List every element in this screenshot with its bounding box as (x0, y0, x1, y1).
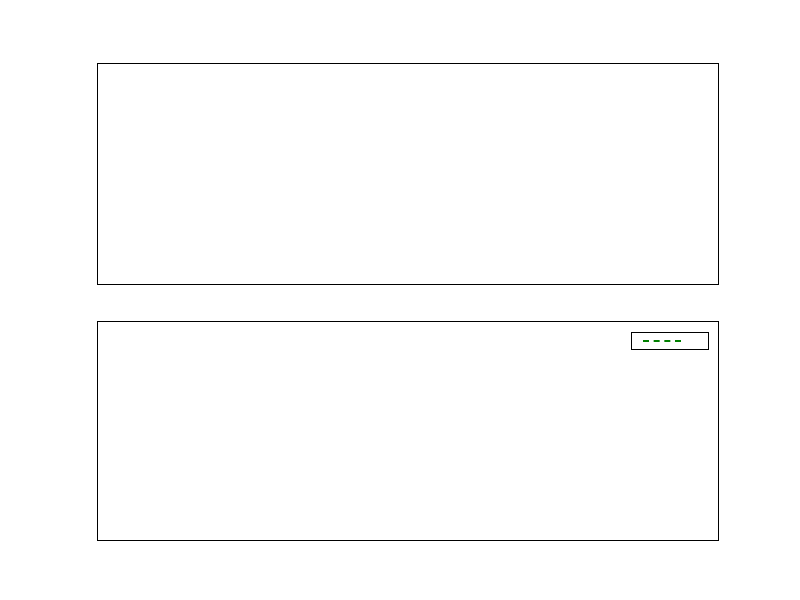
cumulative-plot-area (98, 322, 718, 540)
cumulative-histogram-axes (97, 321, 719, 541)
cumulative-curve-svg (98, 322, 718, 540)
figure-canvas (0, 0, 800, 600)
histogram-bars (98, 64, 718, 284)
legend-mag-limit-icon (643, 340, 681, 342)
legend-box (631, 332, 709, 350)
differential-histogram-axes (97, 63, 719, 285)
